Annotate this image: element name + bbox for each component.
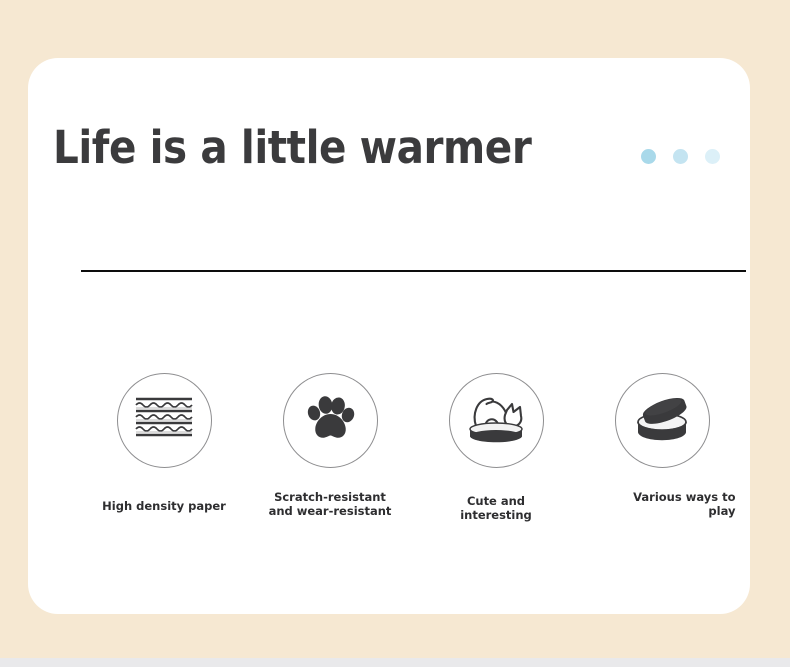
- page-title: Life is a little warmer: [53, 120, 531, 176]
- feature-list: High density paper: [81, 373, 746, 522]
- cat-on-bed-icon: [463, 390, 529, 452]
- dot-2-icon: [673, 149, 688, 164]
- feature-item: High density paper: [81, 373, 247, 522]
- feature-icon-circle: [615, 373, 710, 468]
- feature-label: Scratch-resistant and wear-resistant: [255, 490, 405, 518]
- feature-label: Various ways to play: [586, 490, 739, 518]
- dot-1-icon: [641, 149, 656, 164]
- feature-icon-circle: [283, 373, 378, 468]
- feature-item: Various ways to play: [579, 373, 745, 522]
- feature-label: High density paper: [89, 499, 239, 513]
- page-root: Life is a little warmer: [0, 0, 790, 667]
- stacked-discs-icon: [630, 391, 694, 451]
- feature-icon-circle: [117, 373, 212, 468]
- card-header: Life is a little warmer: [53, 120, 720, 210]
- bottom-strip: [0, 658, 790, 667]
- title-divider: [81, 270, 746, 272]
- feature-label: Cute and interesting: [421, 494, 571, 522]
- dot-3-icon: [705, 149, 720, 164]
- feature-icon-circle: [449, 373, 544, 468]
- decorative-dots: [641, 149, 720, 164]
- paw-print-icon: [303, 393, 357, 449]
- feature-item: Cute and interesting: [413, 373, 579, 522]
- corrugated-paper-icon: [134, 396, 194, 446]
- feature-item: Scratch-resistant and wear-resistant: [247, 373, 413, 522]
- product-card: Life is a little warmer: [28, 58, 750, 614]
